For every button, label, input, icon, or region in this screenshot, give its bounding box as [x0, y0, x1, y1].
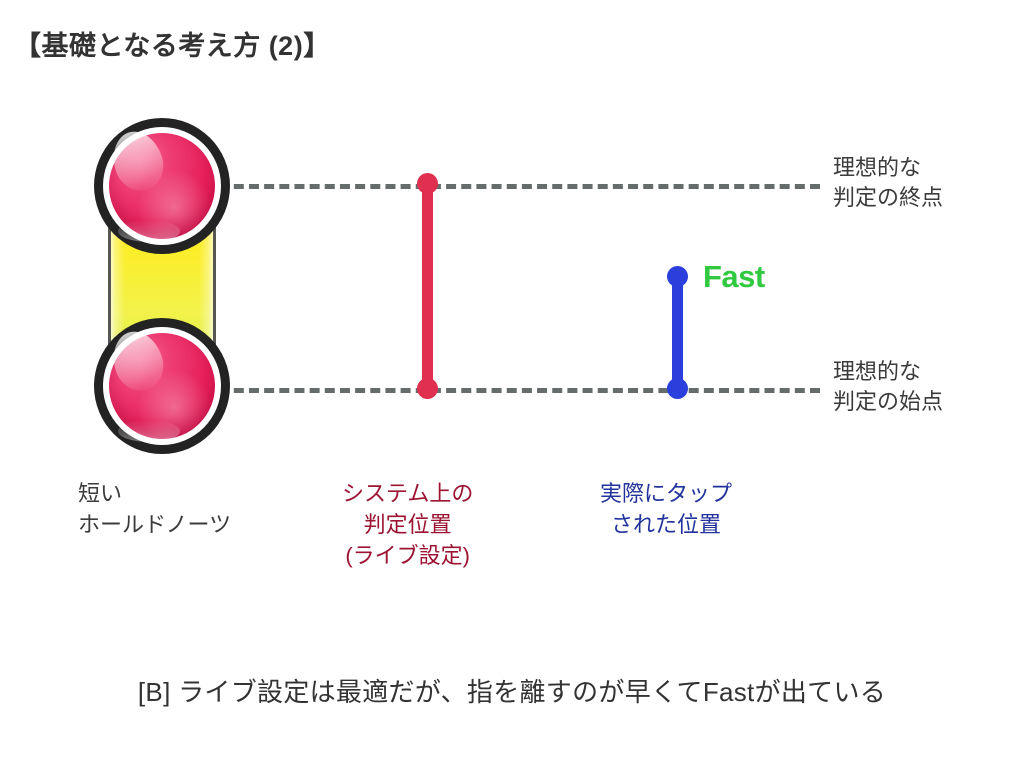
caption-tap-marker-line1: 実際にタップ: [600, 478, 732, 509]
guide-line-ideal-end: [158, 184, 820, 189]
page-title: 【基礎となる考え方 (2)】: [14, 24, 331, 63]
caption-system-marker-line2: 判定位置: [342, 509, 473, 540]
guide-label-ideal-end-line1: 理想的な: [833, 153, 943, 183]
guide-label-ideal-start-line2: 判定の始点: [833, 387, 943, 417]
marker-endpoint-bottom: [417, 378, 438, 399]
note-ball: [109, 133, 215, 239]
guide-label-ideal-start-line1: 理想的な: [833, 357, 943, 387]
caption-system-marker-line1: システム上の: [342, 478, 473, 509]
bottom-caption: [B] ライブ設定は最適だが、指を離すのが早くてFastが出ている: [0, 672, 1024, 709]
guide-label-ideal-end-line2: 判定の終点: [833, 183, 943, 213]
hold-note-graphic: [88, 118, 236, 454]
slide-canvas: 【基礎となる考え方 (2)】 Fast 理想的な 判定の終点: [0, 0, 1024, 768]
caption-system-marker-line3: (ライブ設定): [342, 540, 473, 571]
note-ball: [109, 333, 215, 439]
guide-label-ideal-end: 理想的な 判定の終点: [833, 153, 943, 213]
caption-hold-note: 短い ホールドノーツ: [78, 478, 231, 540]
actual-tap-marker: [667, 266, 688, 399]
caption-hold-note-line1: 短い: [78, 478, 231, 509]
marker-endpoint-bottom: [667, 378, 688, 399]
caption-tap-marker: 実際にタップ された位置: [600, 478, 732, 540]
fast-badge: Fast: [703, 259, 765, 295]
hold-note-tail: [94, 318, 230, 454]
caption-system-marker: システム上の 判定位置 (ライブ設定): [342, 478, 473, 571]
guide-label-ideal-start: 理想的な 判定の始点: [833, 357, 943, 417]
caption-hold-note-line2: ホールドノーツ: [78, 509, 231, 540]
marker-stem: [672, 276, 683, 389]
marker-stem: [422, 183, 433, 389]
system-judgement-marker: [417, 173, 438, 399]
guide-line-ideal-start: [158, 388, 820, 393]
hold-note-head: [94, 118, 230, 254]
caption-tap-marker-line2: された位置: [600, 509, 732, 540]
